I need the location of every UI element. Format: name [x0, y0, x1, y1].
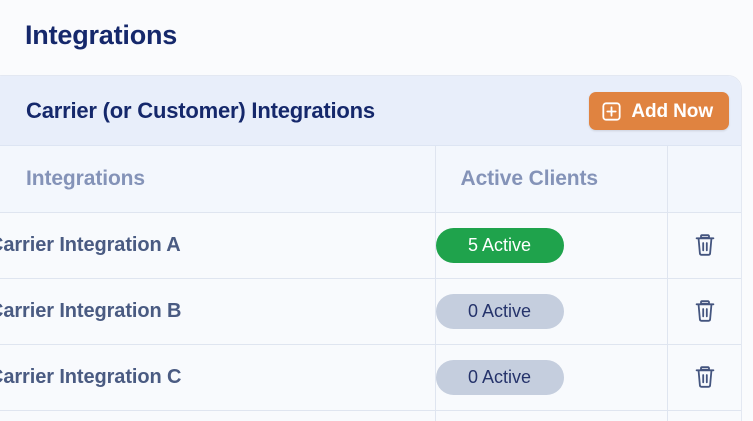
- table-row[interactable]: Carrier Integration B 0 Active: [0, 278, 742, 344]
- status-badge: 0 Active: [436, 294, 564, 329]
- card-header-title: Carrier (or Customer) Integrations: [26, 97, 375, 125]
- column-header-actions: [667, 146, 742, 212]
- row-actions: [667, 344, 742, 410]
- trash-icon: [693, 232, 717, 258]
- page-title: Integrations: [25, 18, 177, 52]
- trash-icon: [693, 364, 717, 390]
- row-actions: [667, 212, 742, 278]
- delete-row-button[interactable]: [688, 228, 722, 262]
- delete-row-button[interactable]: [688, 360, 722, 394]
- column-header-active-clients[interactable]: Active Clients: [435, 146, 667, 212]
- row-integration-name: [0, 410, 435, 421]
- plus-square-icon: [602, 102, 621, 121]
- row-integration-name: Carrier Integration A: [0, 212, 435, 278]
- table-header-row: Integrations Active Clients: [0, 146, 742, 212]
- row-active-clients: 0 Active: [435, 344, 667, 410]
- table-body: Carrier Integration A 5 Active: [0, 212, 742, 421]
- row-integration-name: Carrier Integration C: [0, 344, 435, 410]
- trash-icon: [693, 298, 717, 324]
- table-header: Integrations Active Clients: [0, 146, 742, 212]
- add-now-label: Add Now: [631, 102, 713, 121]
- row-integration-name: Carrier Integration B: [0, 278, 435, 344]
- column-header-active-clients-label: Active Clients: [436, 167, 667, 191]
- row-actions: [667, 278, 742, 344]
- row-active-clients: [435, 410, 667, 421]
- integrations-table: Integrations Active Clients Carrier Inte…: [0, 146, 742, 421]
- table-row[interactable]: Carrier Integration A 5 Active: [0, 212, 742, 278]
- status-badge: 0 Active: [436, 360, 564, 395]
- integrations-page: Integrations Carrier (or Customer) Integ…: [0, 0, 753, 421]
- row-actions: [667, 410, 742, 421]
- column-header-integrations[interactable]: Integrations: [0, 146, 435, 212]
- delete-row-button[interactable]: [688, 294, 722, 328]
- row-active-clients: 0 Active: [435, 278, 667, 344]
- column-header-integrations-label: Integrations: [0, 167, 435, 191]
- add-now-button[interactable]: Add Now: [589, 92, 729, 130]
- status-badge: 5 Active: [436, 228, 564, 263]
- row-active-clients: 5 Active: [435, 212, 667, 278]
- card-header: Carrier (or Customer) Integrations Add N…: [0, 76, 741, 146]
- integrations-card: Carrier (or Customer) Integrations Add N…: [0, 75, 742, 421]
- table-row[interactable]: Carrier Integration C 0 Active: [0, 344, 742, 410]
- table-row[interactable]: [0, 410, 742, 421]
